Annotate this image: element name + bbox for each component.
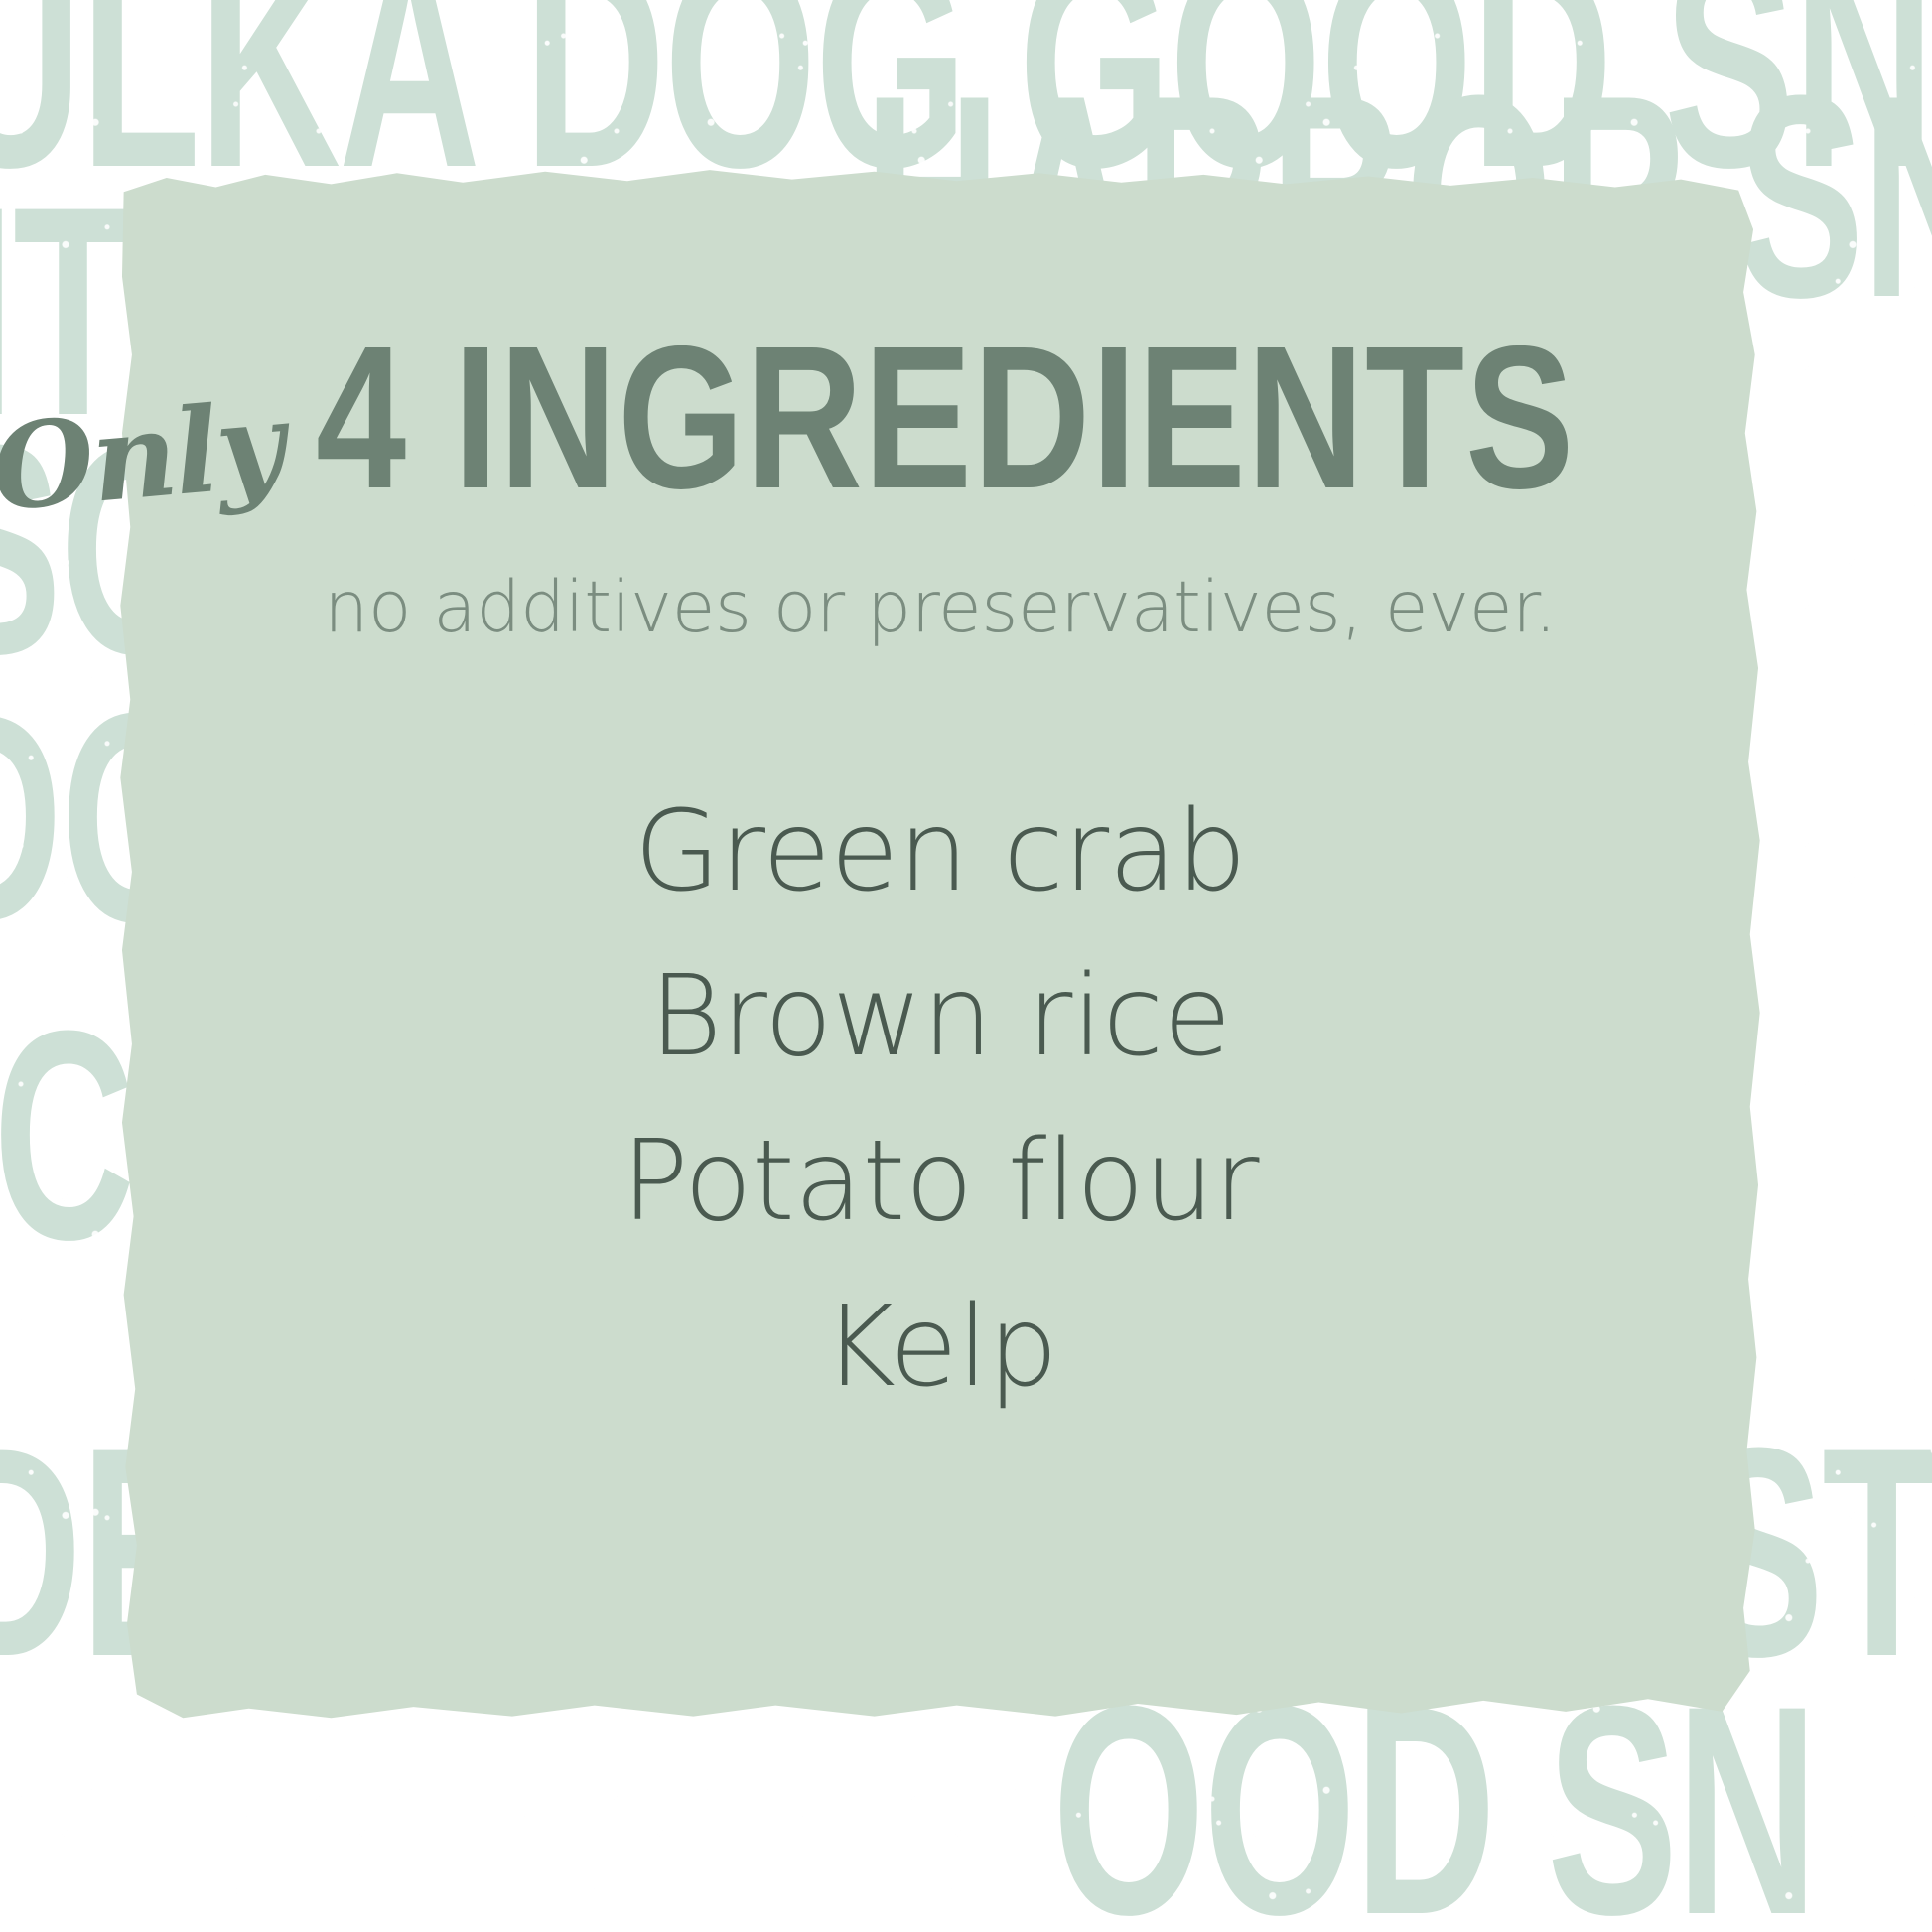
headline-main-word: 4 INGREDIENTS	[316, 316, 1575, 519]
ingredient-item: Kelp	[823, 1291, 1058, 1404]
headline-script-word: Only	[0, 385, 287, 527]
ingredient-list: Green crab Brown rice Potato flour Kelp	[621, 795, 1259, 1404]
poster-canvas: ULKA DOG GOOD SN HARBOR SNACKS ITY S TH …	[0, 0, 1932, 1932]
ingredient-item: Brown rice	[649, 960, 1231, 1073]
ingredient-item: Green crab	[634, 795, 1247, 908]
ingredients-card: Only 4 INGREDIENTS no additives or prese…	[117, 167, 1763, 1733]
card-content: Only 4 INGREDIENTS no additives or prese…	[117, 167, 1763, 1733]
subtitle: no additives or preservatives, ever.	[324, 566, 1556, 648]
headline: Only 4 INGREDIENTS	[117, 316, 1763, 514]
ingredient-item: Potato flour	[621, 1125, 1259, 1238]
